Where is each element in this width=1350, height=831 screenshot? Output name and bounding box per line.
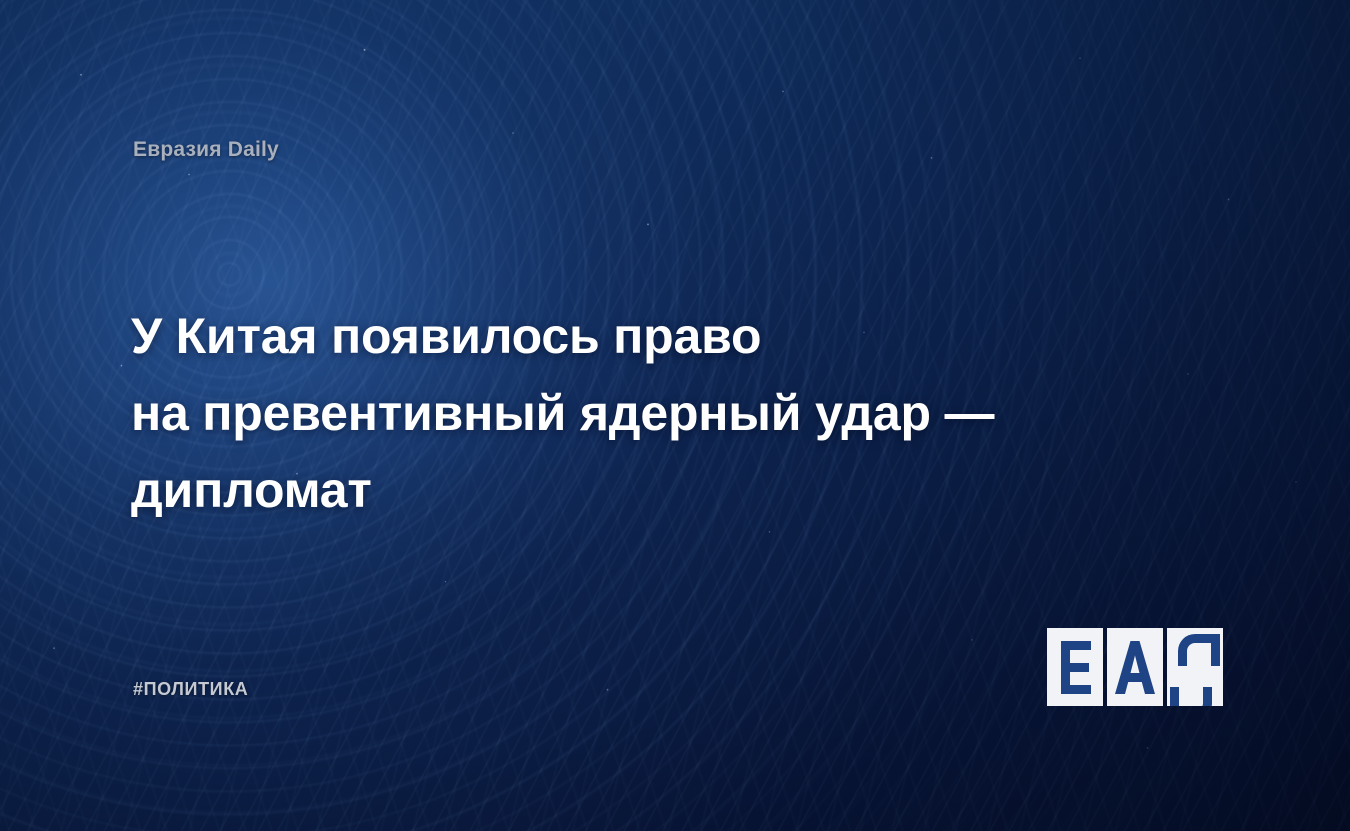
category-tag[interactable]: #ПОЛИТИКА xyxy=(133,679,248,700)
page-title: У Китая появилось право на превентивный … xyxy=(131,298,1091,529)
headline-line-2: на превентивный ядерный удар — xyxy=(131,375,1091,452)
headline-line-1: У Китая появилось право xyxy=(131,298,1091,375)
logo-tile-d-icon xyxy=(1167,628,1223,706)
card-content: Евразия Daily У Китая появилось право на… xyxy=(0,0,1350,831)
news-card: Евразия Daily У Китая появилось право на… xyxy=(0,0,1350,831)
logo-tile-e-icon xyxy=(1047,628,1103,706)
brand-label: Евразия Daily xyxy=(133,138,279,162)
logo-tile-a-icon xyxy=(1107,628,1163,706)
headline-line-3: дипломат xyxy=(131,452,1091,529)
ead-logo[interactable] xyxy=(1047,628,1223,706)
